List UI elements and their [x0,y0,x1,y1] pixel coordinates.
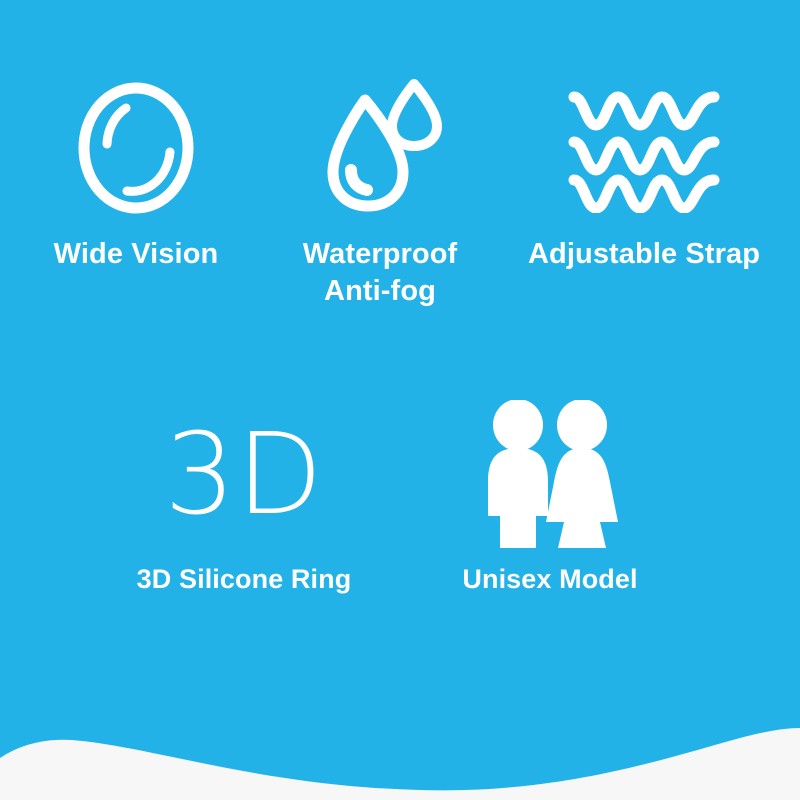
3d-text-glyph: 3D [164,419,324,531]
waves-icon [566,78,722,218]
feature-label-wide-vision: Wide Vision [54,236,219,273]
lens-circle-icon [71,78,201,218]
feature-waterproof-anti-fog[interactable]: Waterproof Anti-fog [275,78,485,310]
unisex-people-icon [480,400,620,550]
feature-label-waterproof-anti-fog: Waterproof Anti-fog [303,236,458,310]
water-drop-icon [317,78,443,218]
feature-label-unisex-model: Unisex Model [462,562,637,597]
feature-adjustable-strap[interactable]: Adjustable Strap [500,78,788,273]
feature-wide-vision[interactable]: Wide Vision [12,78,260,273]
feature-row-top: Wide Vision Waterproof Anti-fog [0,78,800,310]
feature-unisex-model[interactable]: Unisex Model [426,400,674,597]
feature-label-3d-silicone-ring: 3D Silicone Ring [137,562,352,597]
feature-3d-silicone-ring[interactable]: 3D 3D Silicone Ring [108,400,380,597]
bottom-wave-decoration [0,690,800,800]
3d-text-icon: 3D [164,400,324,550]
product-feature-poster: Wide Vision Waterproof Anti-fog [0,0,800,800]
feature-row-bottom: 3D 3D Silicone Ring Unisex Model [108,400,708,597]
feature-label-adjustable-strap: Adjustable Strap [528,236,760,273]
